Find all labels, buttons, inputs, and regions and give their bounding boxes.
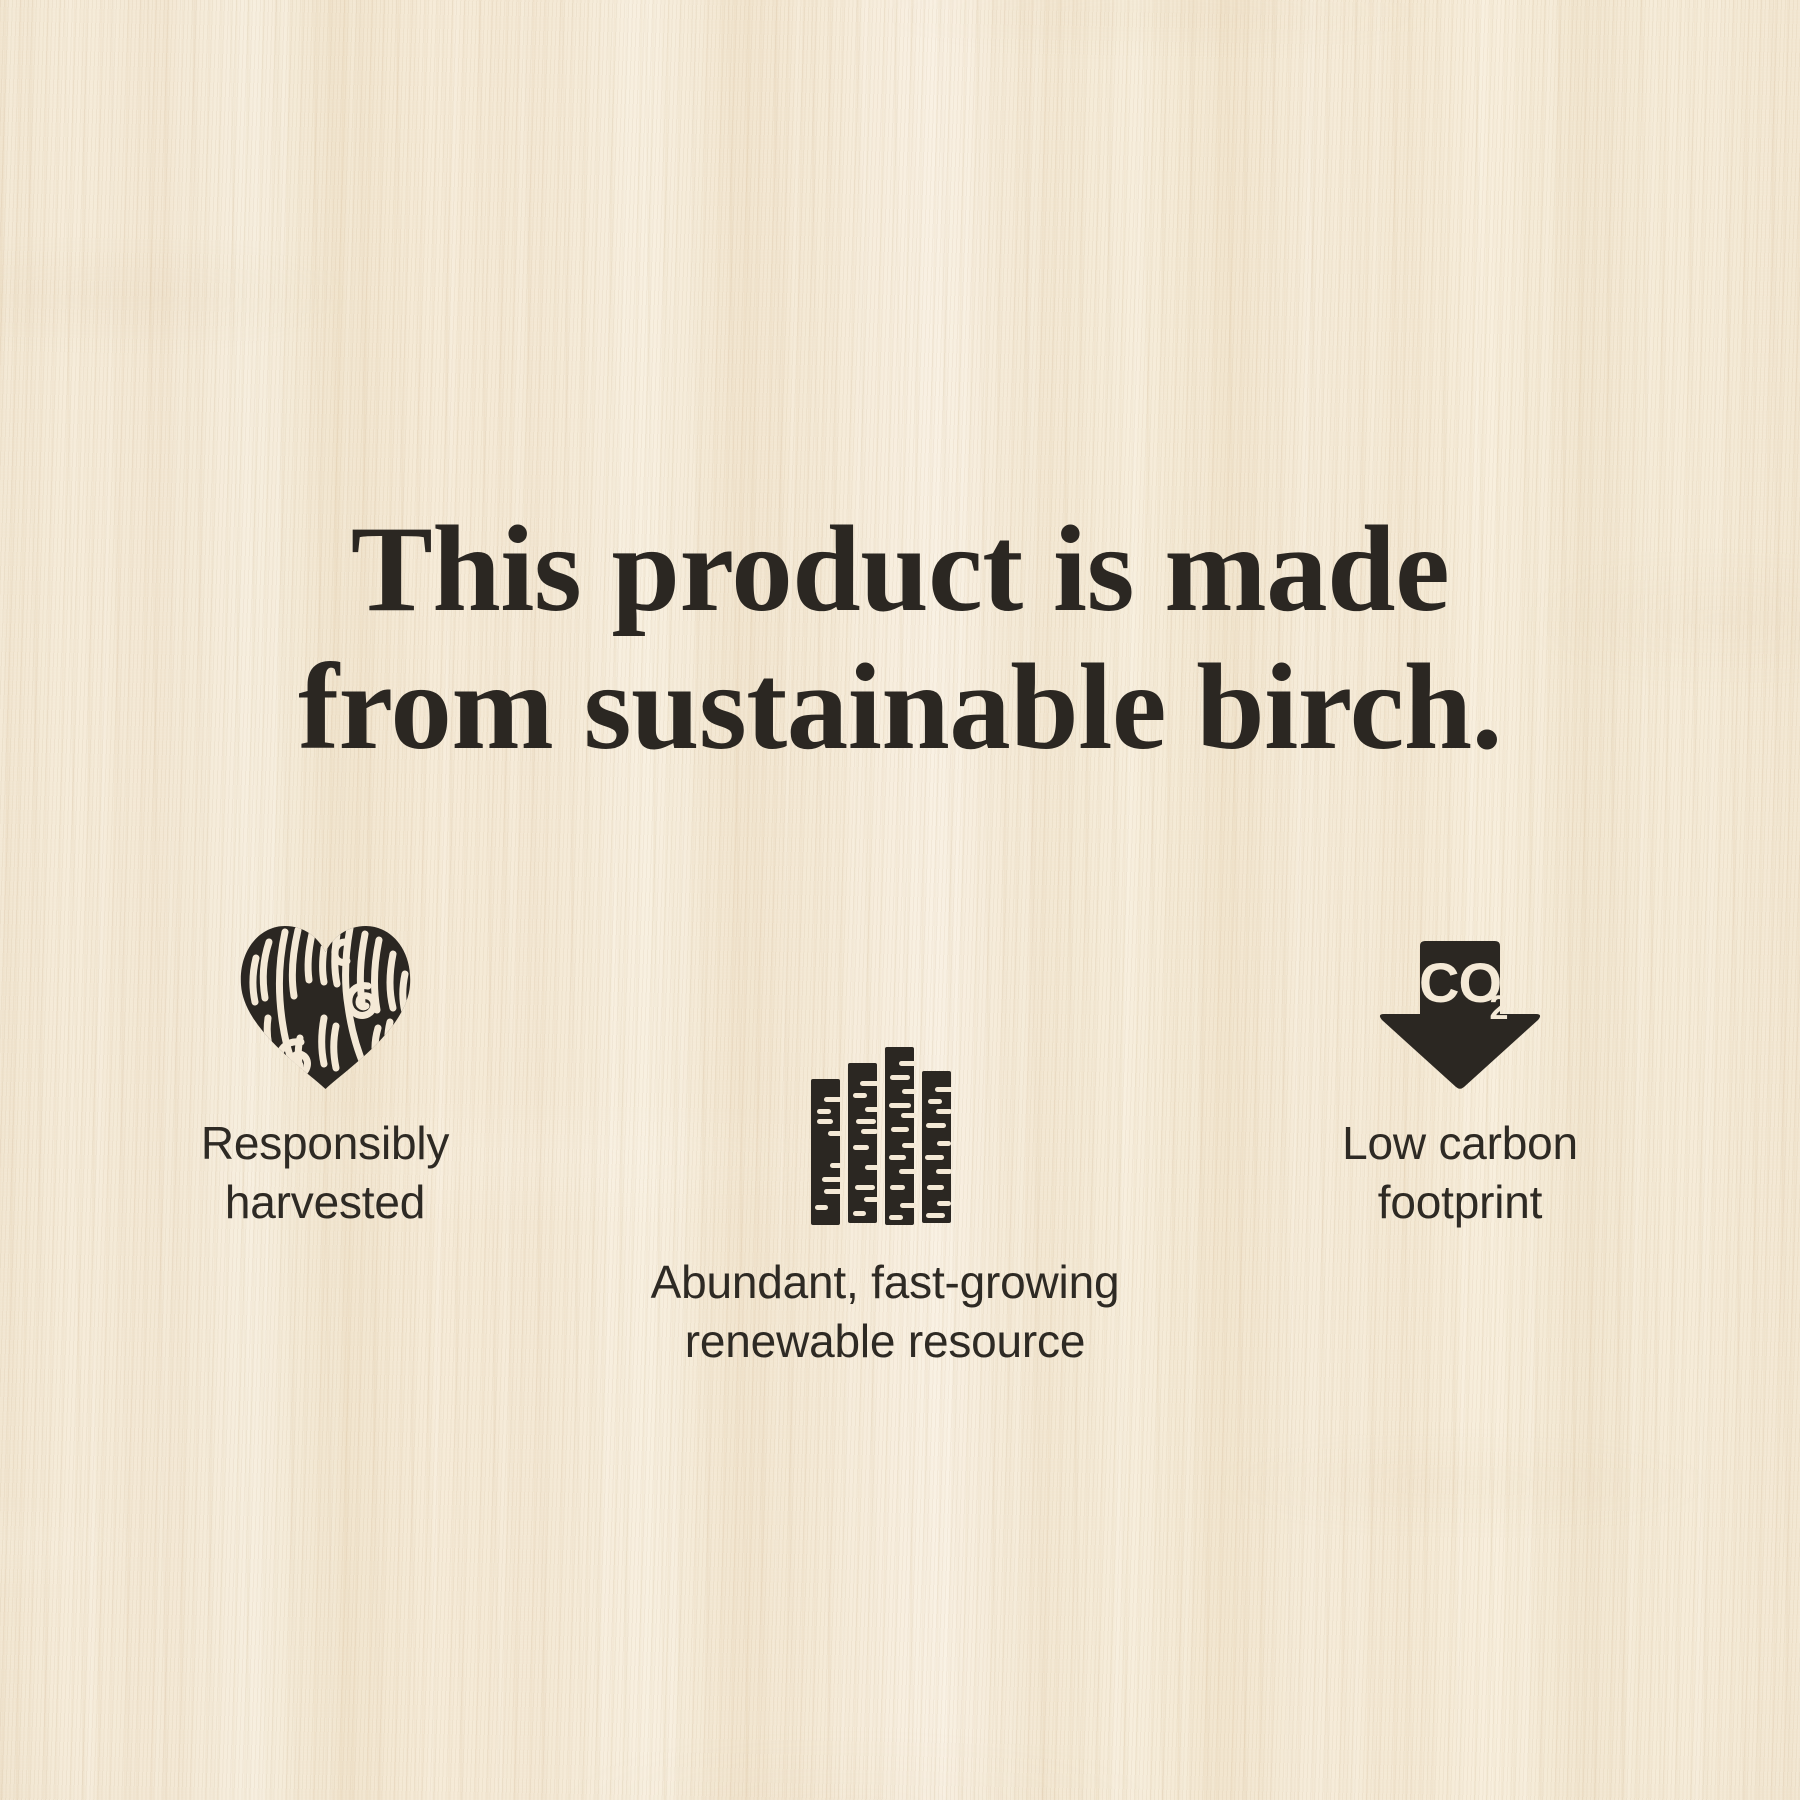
co2-subscript: 2: [1490, 989, 1509, 1027]
feature-responsibly-harvested: Responsibly harvested: [100, 905, 550, 1232]
feature-renewable-resource: Abundant, fast-growing renewable resourc…: [570, 1045, 1200, 1371]
feature-caption: Low carbon footprint: [1225, 1114, 1695, 1232]
feature-icon-slot: CO 2: [1225, 905, 1695, 1090]
feature-icon-slot: [100, 905, 550, 1090]
birch-trunks-icon: [809, 1045, 961, 1225]
feature-caption: Responsibly harvested: [100, 1114, 550, 1232]
wood-grain-heart-icon: [238, 922, 413, 1090]
feature-caption: Abundant, fast-growing renewable resourc…: [570, 1253, 1200, 1371]
sustainable-birch-graphic: This product is made from sustainable bi…: [0, 0, 1800, 1800]
co2-down-arrow-icon: CO 2: [1377, 940, 1543, 1090]
feature-list: Responsibly harvested: [0, 905, 1800, 1345]
feature-icon-slot: [570, 1045, 1200, 1225]
feature-low-carbon-footprint: CO 2 Low carbon footprint: [1225, 905, 1695, 1232]
page-title: This product is made from sustainable bi…: [0, 500, 1800, 776]
